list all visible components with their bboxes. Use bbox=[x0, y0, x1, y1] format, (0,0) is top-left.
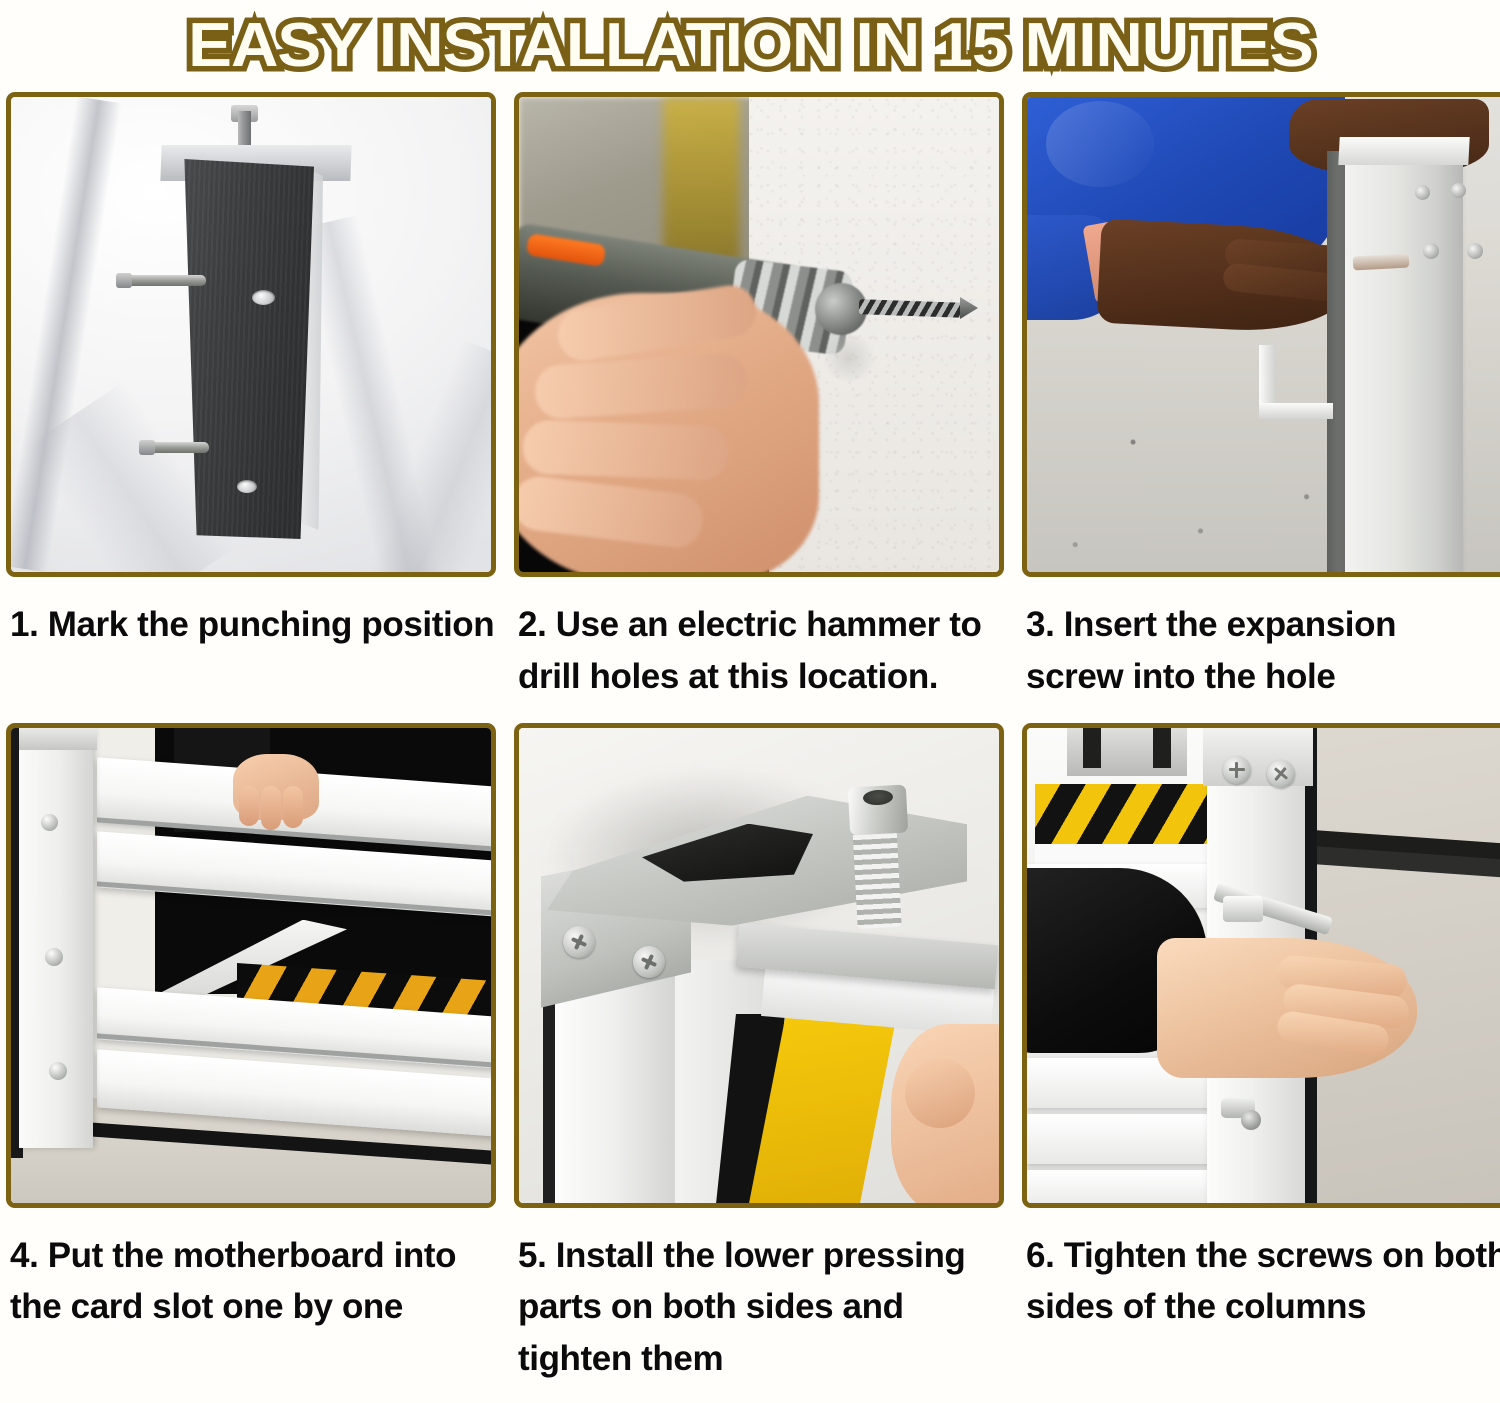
finger bbox=[522, 419, 730, 480]
top-fitting-gap bbox=[1083, 728, 1101, 768]
card-slot-pin bbox=[45, 948, 63, 966]
allen-key-short-arm bbox=[1259, 403, 1333, 419]
column-shadow-edge bbox=[1327, 151, 1347, 572]
hazard-stripe bbox=[1035, 784, 1215, 844]
card-slot-pin bbox=[49, 1062, 67, 1080]
column-cap bbox=[19, 728, 97, 750]
step-3-caption: 3. Insert the expansion screw into the h… bbox=[1022, 599, 1500, 703]
step-3-caption-line-2: screw into the hole bbox=[1026, 651, 1500, 703]
shirt-highlight bbox=[1046, 101, 1154, 187]
step-2-caption: 2. Use an electric hammer to drill holes… bbox=[514, 599, 1004, 703]
step-card-2: 2. Use an electric hammer to drill holes… bbox=[514, 92, 1004, 703]
aluminum-column bbox=[1345, 149, 1463, 572]
screw-head bbox=[1451, 183, 1466, 198]
hazard-white-edge bbox=[1035, 844, 1215, 864]
rod-cap bbox=[139, 440, 155, 455]
thumb bbox=[905, 1058, 975, 1128]
finger bbox=[239, 786, 259, 826]
step-5-photo-frame bbox=[514, 723, 1004, 1208]
step-4-photo-frame bbox=[6, 723, 496, 1208]
step-6-caption-line-2: sides of the columns bbox=[1026, 1281, 1500, 1333]
photo-lower-pressing-parts bbox=[519, 728, 999, 1203]
screw-head bbox=[1423, 243, 1439, 259]
step-card-1: 1. Mark the punching position bbox=[6, 92, 496, 703]
step-6-caption-line-1: 6. Tighten the screws on both bbox=[1026, 1230, 1500, 1282]
step-6-photo-frame bbox=[1022, 723, 1500, 1208]
barrier-board bbox=[1027, 1170, 1213, 1203]
steps-row-1: 1. Mark the punching position bbox=[0, 92, 1500, 703]
step-2-photo-frame bbox=[514, 92, 1004, 577]
screwdriver-collar bbox=[1223, 896, 1263, 922]
photo-drill-holes bbox=[519, 97, 999, 572]
column-top bbox=[1338, 137, 1469, 165]
step-6-caption: 6. Tighten the screws on both sides of t… bbox=[1022, 1230, 1500, 1334]
step-card-5: 5. Install the lower pressing parts on b… bbox=[514, 723, 1004, 1385]
step-3-photo-frame bbox=[1022, 92, 1500, 577]
top-fitting-gap bbox=[1153, 728, 1171, 768]
finger bbox=[261, 786, 281, 830]
screw-head bbox=[1467, 243, 1483, 259]
step-5-caption-line-1: 5. Install the lower pressing bbox=[518, 1230, 1004, 1282]
column-cap bbox=[1203, 728, 1313, 786]
photo-insert-motherboard bbox=[11, 728, 491, 1203]
screw-head bbox=[1415, 185, 1430, 200]
step-5-caption-line-3: tighten them bbox=[518, 1333, 1004, 1385]
lower-screw bbox=[1241, 1110, 1261, 1130]
photo-mark-punching-position bbox=[11, 97, 491, 572]
step-1-caption: 1. Mark the punching position bbox=[6, 599, 496, 651]
finger bbox=[283, 786, 303, 828]
step-5-caption-line-2: parts on both sides and bbox=[518, 1281, 1004, 1333]
aluminum-column bbox=[19, 728, 93, 1148]
barrier-board bbox=[1027, 1114, 1217, 1164]
threaded-bolt-shaft bbox=[852, 823, 901, 929]
step-2-caption-line-2: drill holes at this location. bbox=[518, 651, 1004, 703]
card-slot-pin bbox=[41, 814, 58, 831]
aluminum-column bbox=[555, 974, 675, 1203]
header-banner: EASY INSTALLATION IN 15 MINUTES bbox=[0, 0, 1500, 92]
bolt-hole bbox=[237, 480, 257, 493]
rod-cap bbox=[116, 273, 132, 288]
step-2-caption-line-1: 2. Use an electric hammer to bbox=[518, 599, 1004, 651]
step-3-caption-line-1: 3. Insert the expansion bbox=[1026, 599, 1500, 651]
drill-dust bbox=[819, 335, 879, 381]
step-5-caption: 5. Install the lower pressing parts on b… bbox=[514, 1230, 1004, 1385]
step-card-3: 3. Insert the expansion screw into the h… bbox=[1022, 92, 1500, 703]
step-card-4: 4. Put the motherboard into the card slo… bbox=[6, 723, 496, 1385]
expansion-screw bbox=[1353, 254, 1410, 271]
step-4-caption: 4. Put the motherboard into the card slo… bbox=[6, 1230, 496, 1334]
photo-tighten-screws bbox=[1027, 728, 1500, 1203]
steps-row-2: 4. Put the motherboard into the card slo… bbox=[0, 723, 1500, 1385]
photo-insert-expansion-screw bbox=[1027, 97, 1500, 572]
step-1-photo-frame bbox=[6, 92, 496, 577]
step-4-caption-line-2: the card slot one by one bbox=[10, 1281, 496, 1333]
screw-cross-slot bbox=[1235, 762, 1238, 778]
step-card-6: 6. Tighten the screws on both sides of t… bbox=[1022, 723, 1500, 1385]
step-4-caption-line-1: 4. Put the motherboard into bbox=[10, 1230, 496, 1282]
infographic-sheet: EASY INSTALLATION IN 15 MINUTES bbox=[0, 0, 1500, 1403]
bolt-hole bbox=[252, 290, 275, 305]
page-title: EASY INSTALLATION IN 15 MINUTES bbox=[188, 15, 1313, 77]
